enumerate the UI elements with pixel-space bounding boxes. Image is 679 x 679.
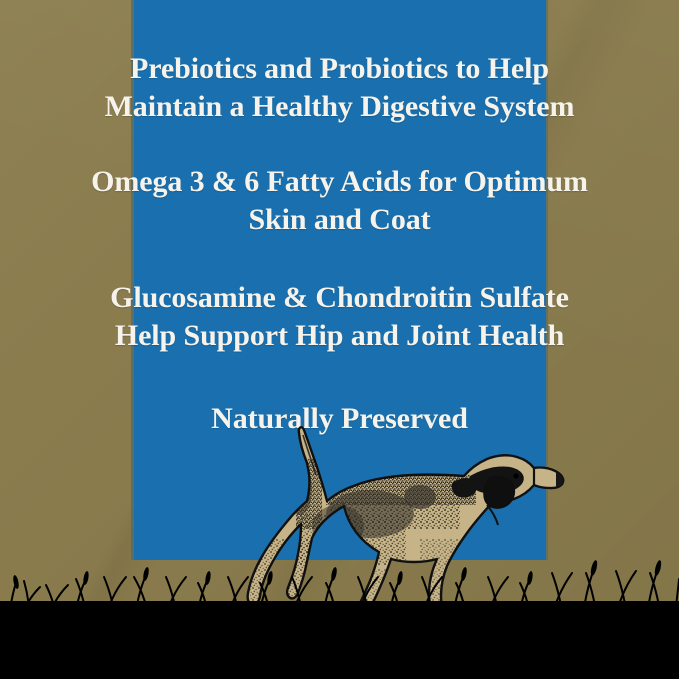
benefit-line: Maintain a Healthy Digestive System [0, 88, 679, 126]
benefit-line: Skin and Coat [0, 201, 679, 239]
ground-silhouette [0, 601, 679, 679]
benefit-line: Glucosamine & Chondroitin Sulfate [0, 279, 679, 317]
benefit-text-omega: Omega 3 & 6 Fatty Acids for Optimum Skin… [0, 163, 679, 239]
benefit-text-prebiotics: Prebiotics and Probiotics to Help Mainta… [0, 50, 679, 126]
benefit-line: Prebiotics and Probiotics to Help [0, 50, 679, 88]
foreground-scene [0, 419, 679, 679]
product-benefits-graphic: Prebiotics and Probiotics to Help Mainta… [0, 0, 679, 679]
benefit-text-glucosamine: Glucosamine & Chondroitin Sulfate Help S… [0, 279, 679, 355]
benefit-line: Omega 3 & 6 Fatty Acids for Optimum [0, 163, 679, 201]
benefit-line: Help Support Hip and Joint Health [0, 317, 679, 355]
